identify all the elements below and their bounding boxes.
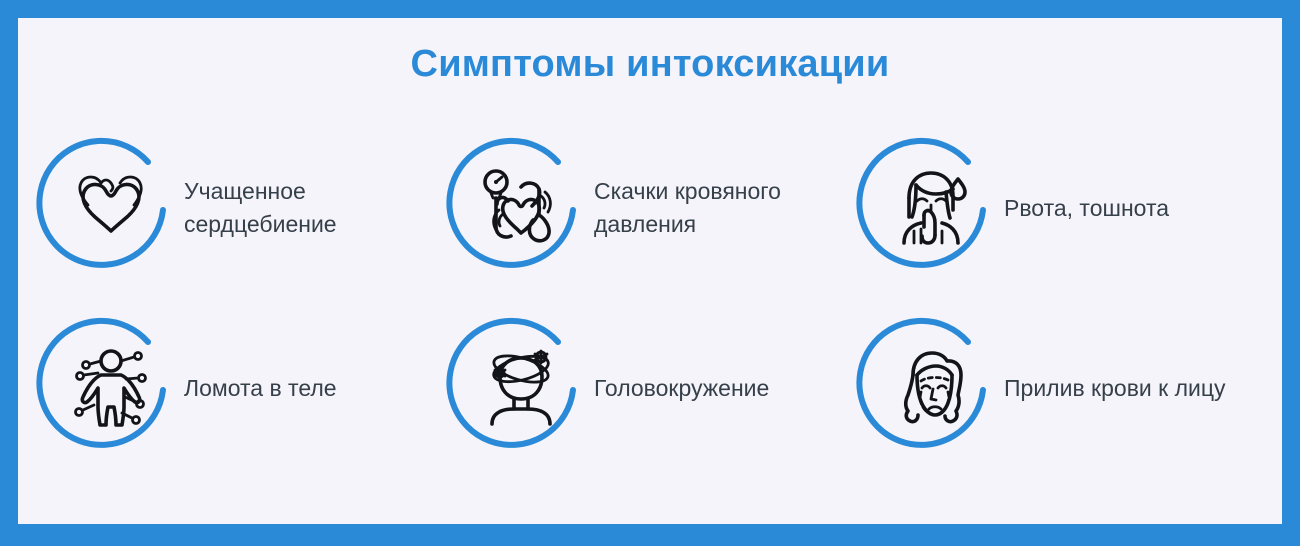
double-heart-icon: [68, 165, 154, 251]
symptom-item-body-aches: Ломота в теле: [40, 298, 450, 478]
symptom-item-vomiting-nausea: Рвота, тошнота: [860, 118, 1260, 298]
symptom-label: Скачки кровяного давления: [594, 175, 844, 240]
dizzy-head-icon: [478, 345, 564, 431]
page-title: Симптомы интоксикации: [18, 18, 1282, 86]
symptom-item-blood-pressure: Скачки кровяного давления: [450, 118, 860, 298]
symptom-icon-badge: [860, 138, 1000, 278]
symptom-icon-badge: [40, 138, 180, 278]
symptom-label: Прилив крови к лицу: [1004, 372, 1226, 405]
content-panel: Симптомы интоксикации Учащенное сердцеби…: [18, 18, 1282, 524]
symptom-icon-badge: [450, 138, 590, 278]
symptom-item-facial-flushing: Прилив крови к лицу: [860, 298, 1260, 478]
symptom-icon-badge: [450, 318, 590, 458]
symptoms-grid: Учащенное сердцебиение: [40, 118, 1260, 478]
body-pain-points-icon: [68, 345, 154, 431]
blood-pressure-monitor-icon: [478, 165, 564, 251]
symptom-label: Рвота, тошнота: [1004, 192, 1169, 225]
flushed-face-icon: [888, 345, 974, 431]
symptom-label: Учащенное сердцебиение: [184, 175, 434, 240]
infographic-root: Симптомы интоксикации Учащенное сердцеби…: [0, 0, 1300, 546]
nausea-person-icon: [888, 165, 974, 251]
symptom-icon-badge: [40, 318, 180, 458]
symptom-icon-badge: [860, 318, 1000, 458]
symptom-label: Головокружение: [594, 372, 769, 405]
symptom-item-dizziness: Головокружение: [450, 298, 860, 478]
symptom-item-rapid-heartbeat: Учащенное сердцебиение: [40, 118, 450, 298]
symptom-label: Ломота в теле: [184, 372, 337, 405]
